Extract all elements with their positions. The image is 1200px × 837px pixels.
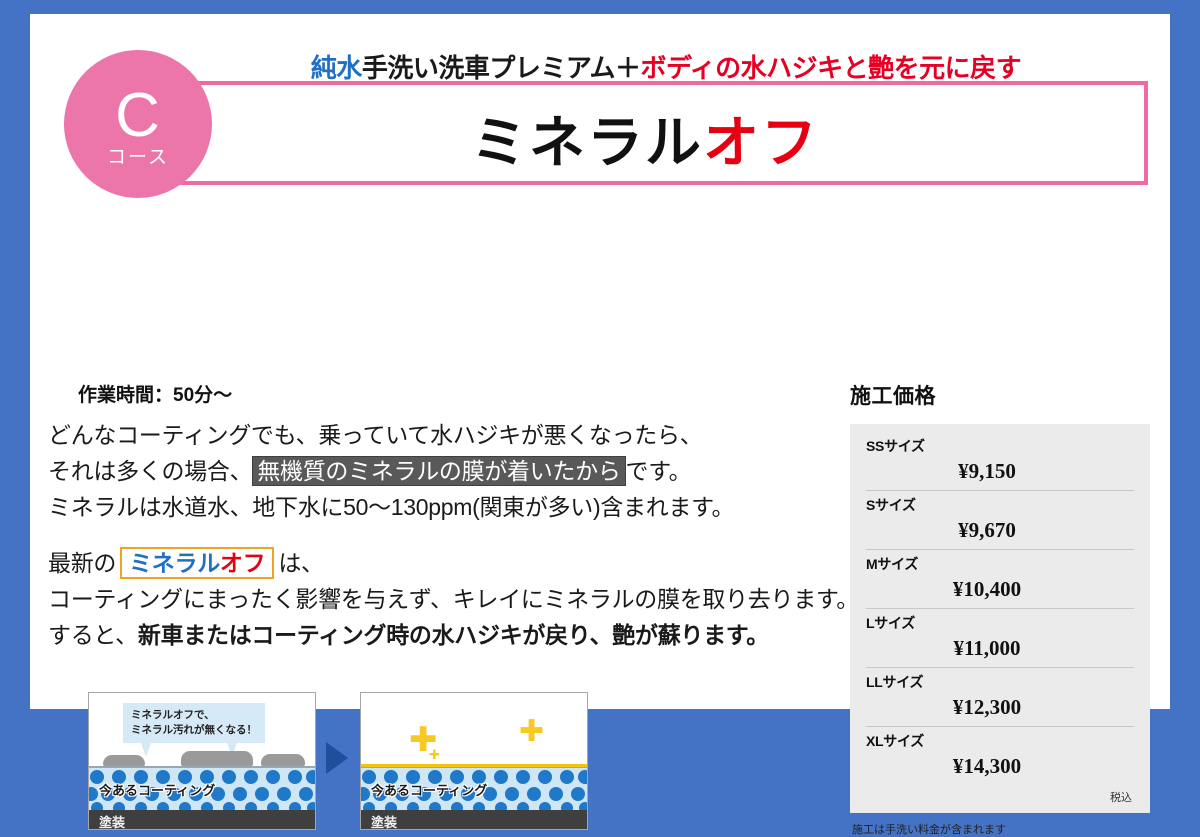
- flyer-page: C コース 純水手洗い洗車プレミアム＋ボディの水ハジキと艶を元に戻す ミネラルオ…: [30, 14, 1170, 709]
- description-line-4-pre: 最新の: [48, 550, 116, 576]
- diagram-panel-before: ミネラルオフで、 ミネラル汚れが無くなる！: [88, 692, 316, 830]
- description-line-6: すると、新車またはコーティング時の水ハジキが戻り、艶が蘇ります。: [48, 617, 838, 653]
- speech-bubble-tail-left: [141, 743, 151, 757]
- description-line-5: コーティングにまったく影響を与えず、キレイにミネラルの膜を取り去ります。: [48, 581, 838, 617]
- process-diagram: ミネラルオフで、 ミネラル汚れが無くなる！: [88, 692, 618, 834]
- price-value: ¥9,150: [866, 459, 1134, 484]
- description-line-4-post: は、: [278, 550, 323, 576]
- paragraph-gap: [48, 525, 838, 545]
- price-value: ¥11,000: [866, 636, 1134, 661]
- price-size-label: Lサイズ: [866, 613, 1134, 633]
- work-time-label: 作業時間：50分〜: [78, 380, 838, 407]
- coating-layer: 今あるコーティング: [89, 766, 316, 810]
- price-value: ¥12,300: [866, 695, 1134, 720]
- tagline-black: 手洗い洗車プレミアム＋: [362, 53, 641, 83]
- price-table: SSサイズ ¥9,150 Sサイズ ¥9,670 Mサイズ ¥10,400 Lサ…: [850, 424, 1150, 813]
- price-table-title: 施工価格: [850, 380, 1160, 410]
- coating-layer: 今あるコーティング: [361, 766, 588, 810]
- tagline: 純水手洗い洗車プレミアム＋ボディの水ハジキと艶を元に戻す: [236, 48, 1096, 85]
- gloss-line: [361, 764, 588, 767]
- price-row: Mサイズ ¥10,400: [866, 549, 1134, 608]
- paint-layer-label: 塗装: [99, 812, 125, 830]
- description-line-6-pre: すると、: [48, 622, 138, 648]
- speech-bubble-line-1: ミネラルオフで、: [131, 708, 257, 723]
- paint-layer: 塗装: [89, 810, 316, 830]
- sparkle-icon: ✚: [519, 717, 544, 747]
- price-column: 施工価格 SSサイズ ¥9,150 Sサイズ ¥9,670 Mサイズ ¥10,4…: [850, 380, 1160, 837]
- price-size-label: Sサイズ: [866, 495, 1134, 515]
- price-size-label: Mサイズ: [866, 554, 1134, 574]
- coating-layer-label: 今あるコーティング: [99, 780, 215, 799]
- price-row: Lサイズ ¥11,000: [866, 608, 1134, 667]
- paint-layer: 塗装: [361, 810, 588, 830]
- paint-layer-label: 塗装: [371, 812, 397, 830]
- speech-bubble: ミネラルオフで、 ミネラル汚れが無くなる！: [123, 703, 265, 743]
- page-title: ミネラルオフ: [142, 98, 1148, 179]
- header: C コース 純水手洗い洗車プレミアム＋ボディの水ハジキと艶を元に戻す ミネラルオ…: [30, 14, 1170, 194]
- coating-layer-label: 今あるコーティング: [371, 780, 487, 799]
- speech-bubble-line-2: ミネラル汚れが無くなる！: [131, 723, 257, 738]
- mineral-deposit: [261, 754, 305, 766]
- price-row: LLサイズ ¥12,300: [866, 667, 1134, 726]
- description-line-6-bold: 新車またはコーティング時の水ハジキが戻り、艶が蘇ります。: [138, 622, 769, 648]
- description-line-1: どんなコーティングでも、乗っていて水ハジキが悪くなったら、: [48, 417, 838, 453]
- price-value: ¥10,400: [866, 577, 1134, 602]
- price-value: ¥9,670: [866, 518, 1134, 543]
- page-title-red: オフ: [703, 111, 819, 174]
- mineral-deposit: [103, 755, 145, 766]
- tagline-blue: 純水: [311, 53, 362, 83]
- description-line-2-post: です。: [626, 458, 692, 484]
- price-row: Sサイズ ¥9,670: [866, 490, 1134, 549]
- price-row: SSサイズ ¥9,150: [866, 432, 1134, 490]
- brand-badge-mineral-off: ミネラルオフ: [120, 547, 274, 579]
- price-row: XLサイズ ¥14,300: [866, 726, 1134, 785]
- brand-badge-blue: ミネラル: [129, 550, 220, 576]
- tagline-red: ボディの水ハジキと艶を元に戻す: [641, 53, 1022, 83]
- mineral-film-highlight: 無機質のミネラルの膜が着いたから: [252, 456, 625, 486]
- price-size-label: SSサイズ: [866, 436, 1134, 456]
- description-line-2-pre: それは多くの場合、: [48, 458, 252, 484]
- price-value: ¥14,300: [866, 754, 1134, 779]
- diagram-panel-after: ✚ ✚ ✚: [360, 692, 588, 830]
- tax-included-note: 税込: [866, 785, 1134, 807]
- arrow-right-icon: [326, 742, 348, 774]
- price-footnote: 施工は手洗い料金が含まれます: [852, 821, 1160, 837]
- description-column: 作業時間：50分〜 どんなコーティングでも、乗っていて水ハジキが悪くなったら、 …: [48, 380, 838, 653]
- description-line-3: ミネラルは水道水、地下水に50〜130ppm(関東が多い)含まれます。: [48, 489, 838, 525]
- brand-badge-red: オフ: [220, 550, 265, 576]
- price-size-label: LLサイズ: [866, 672, 1134, 692]
- sparkle-icon: ✚: [429, 748, 440, 761]
- mineral-deposit: [181, 751, 253, 766]
- description-line-2: それは多くの場合、無機質のミネラルの膜が着いたからです。: [48, 453, 838, 489]
- price-size-label: XLサイズ: [866, 731, 1134, 751]
- description-line-4: 最新のミネラルオフは、: [48, 545, 838, 581]
- page-title-black: ミネラル: [471, 111, 703, 174]
